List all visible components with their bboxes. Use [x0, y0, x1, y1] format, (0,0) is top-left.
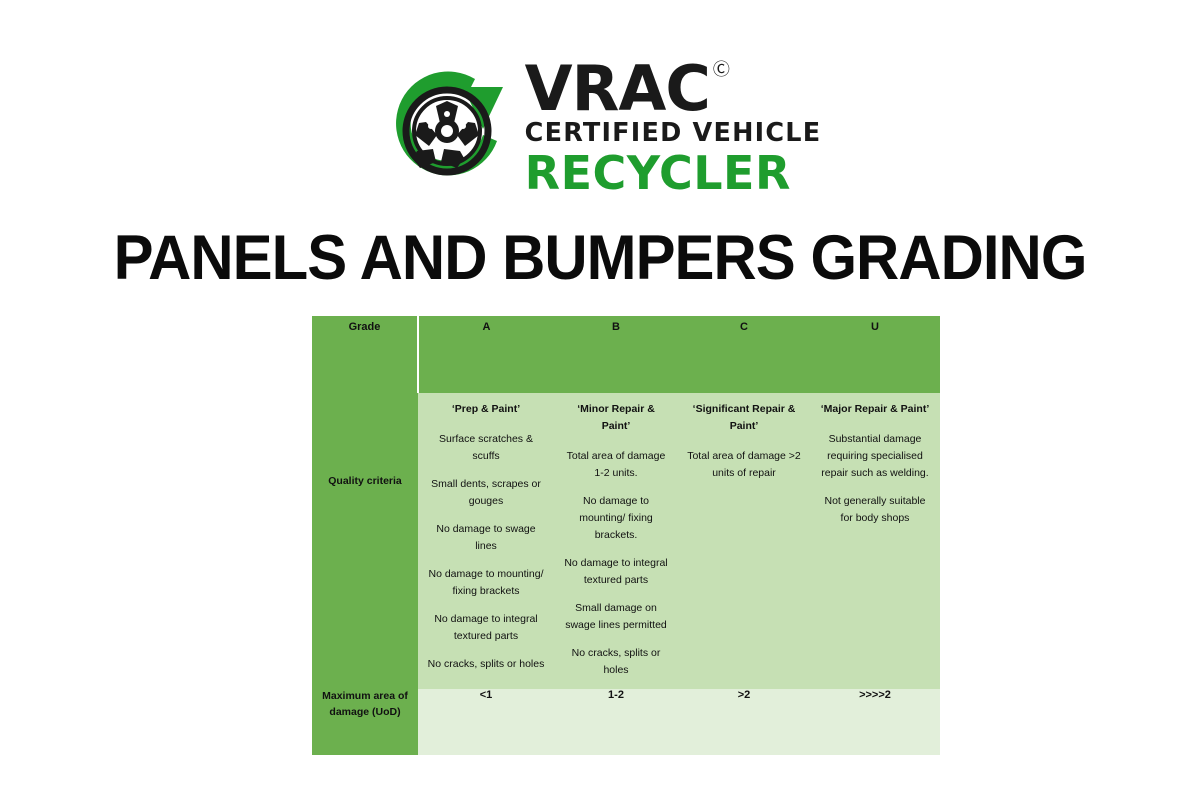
row-label-maximum-area: Maximum area of damage (UoD) — [312, 689, 418, 755]
max-area-value-u: >>>>2 — [810, 689, 940, 755]
copyright-icon: Ⓒ — [713, 62, 730, 79]
cell-criteria-u: ‘Major Repair & Paint’ Substantial damag… — [810, 393, 940, 689]
brand-tagline: CERTIFIED VEHICLE — [525, 118, 822, 148]
criteria-a-line-5: No damage to integral textured parts — [426, 611, 546, 645]
criteria-b-line-2: No damage to mounting/ fixing brackets. — [562, 493, 670, 544]
grading-table: Grade A B C U Quality criteria ‘Prep & P… — [312, 316, 940, 755]
criteria-b-line-5: No cracks, splits or holes — [562, 645, 670, 679]
brand-recycler-word: RECYCLER — [525, 150, 791, 196]
cell-criteria-b: ‘Minor Repair & Paint’ Total area of dam… — [554, 393, 678, 689]
max-area-value-b: 1-2 — [554, 689, 678, 755]
table-row-quality-criteria: Quality criteria ‘Prep & Paint’ Surface … — [312, 393, 940, 689]
wheel-in-circular-arrow-icon — [379, 57, 521, 197]
page-title: PANELS AND BUMPERS GRADING — [30, 222, 1170, 294]
brand-logo: VRAC Ⓒ CERTIFIED VEHICLE RECYCLER — [0, 52, 1200, 202]
criteria-b-line-3: No damage to integral textured parts — [562, 555, 670, 589]
header-grade-b: B — [554, 316, 678, 393]
criteria-a-line-2: Small dents, scrapes or gouges — [426, 476, 546, 510]
criteria-u-line-1: Substantial damage requiring specialised… — [818, 431, 932, 482]
header-grade-u: U — [810, 316, 940, 393]
criteria-u-line-2: Not generally suitable for body shops — [818, 493, 932, 527]
criteria-u-heading: ‘Major Repair & Paint’ — [818, 401, 932, 418]
header-grade-label: Grade — [312, 316, 418, 393]
criteria-b-line-4: Small damage on swage lines permitted — [562, 600, 670, 634]
row-label-quality-criteria: Quality criteria — [312, 393, 418, 689]
header-grade-c: C — [678, 316, 810, 393]
brand-letters-ac: AC — [618, 60, 709, 117]
criteria-a-heading: ‘Prep & Paint’ — [426, 401, 546, 418]
header-grade-a: A — [418, 316, 554, 393]
criteria-a-line-4: No damage to mounting/ fixing brackets — [426, 566, 546, 600]
criteria-b-line-1: Total area of damage 1-2 units. — [562, 448, 670, 482]
max-area-value-c: >2 — [678, 689, 810, 755]
brand-wordmark: VRAC Ⓒ — [525, 60, 730, 117]
brand-letter-v: V — [525, 60, 572, 117]
criteria-a-line-1: Surface scratches & scuffs — [426, 431, 546, 465]
table-row-maximum-area: Maximum area of damage (UoD) <1 1-2 >2 >… — [312, 689, 940, 755]
cell-criteria-a: ‘Prep & Paint’ Surface scratches & scuff… — [418, 393, 554, 689]
criteria-a-line-3: No damage to swage lines — [426, 521, 546, 555]
criteria-c-line-1: Total area of damage >2 units of repair — [686, 448, 802, 482]
brand-letter-r: R — [572, 60, 619, 117]
criteria-a-line-6: No cracks, splits or holes — [426, 656, 546, 673]
criteria-c-heading: ‘Significant Repair & Paint’ — [686, 401, 802, 435]
table-header-row: Grade A B C U — [312, 316, 940, 393]
max-area-value-a: <1 — [418, 689, 554, 755]
criteria-b-heading: ‘Minor Repair & Paint’ — [562, 401, 670, 435]
cell-criteria-c: ‘Significant Repair & Paint’ Total area … — [678, 393, 810, 689]
